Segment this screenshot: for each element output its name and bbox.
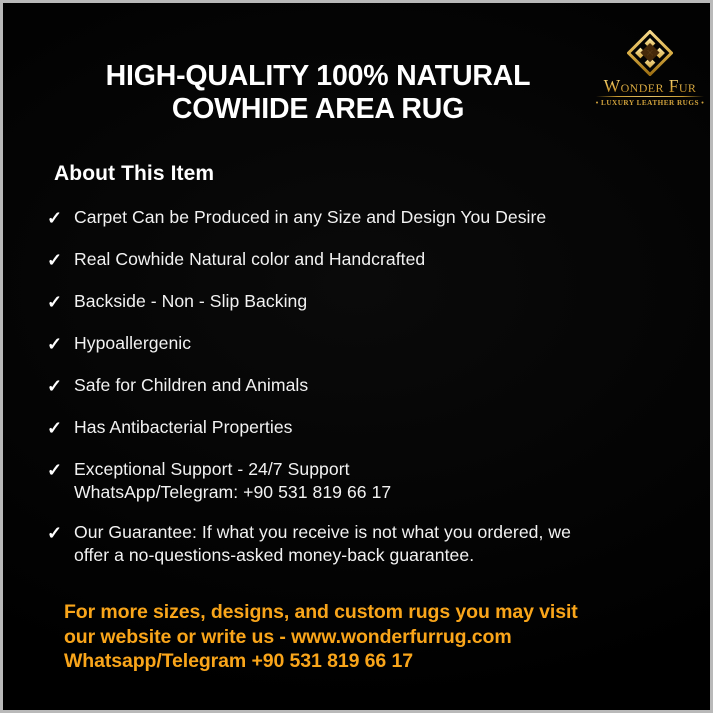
check-icon: ✓ xyxy=(47,521,74,544)
list-item: ✓ Carpet Can be Produced in any Size and… xyxy=(47,206,677,229)
feature-list: ✓ Carpet Can be Produced in any Size and… xyxy=(47,206,677,584)
list-item: ✓ Safe for Children and Animals xyxy=(47,374,677,397)
section-heading-about-this-item: About This Item xyxy=(54,161,214,187)
diamond-logo-icon xyxy=(627,30,673,76)
headline-line-1: HIGH-QUALITY 100% NATURAL xyxy=(106,60,531,92)
brand-divider xyxy=(596,96,704,97)
list-item-label: Our Guarantee: If what you receive is no… xyxy=(74,521,571,567)
list-item-label: Exceptional Support - 24/7 Support Whats… xyxy=(74,458,391,504)
headline-line-2: COWHIDE AREA RUG xyxy=(59,93,577,126)
list-item-label: Has Antibacterial Properties xyxy=(74,416,293,438)
check-icon: ✓ xyxy=(47,206,74,229)
check-icon: ✓ xyxy=(47,248,74,271)
list-item: ✓ Exceptional Support - 24/7 Support Wha… xyxy=(47,458,677,504)
check-icon: ✓ xyxy=(47,416,74,439)
brand-name: Wonder Fur xyxy=(592,77,708,95)
list-item: ✓ Backside - Non - Slip Backing xyxy=(47,290,677,313)
brand-tagline: • LUXURY LEATHER RUGS • xyxy=(592,99,708,108)
check-icon: ✓ xyxy=(47,374,74,397)
list-item-label: Carpet Can be Produced in any Size and D… xyxy=(74,206,546,228)
check-icon: ✓ xyxy=(47,458,74,481)
footer-contact-text: For more sizes, designs, and custom rugs… xyxy=(64,600,578,674)
list-item: ✓ Hypoallergenic xyxy=(47,332,677,355)
check-icon: ✓ xyxy=(47,332,74,355)
list-item-label: Safe for Children and Animals xyxy=(74,374,308,396)
list-item: ✓ Real Cowhide Natural color and Handcra… xyxy=(47,248,677,271)
list-item-label: Backside - Non - Slip Backing xyxy=(74,290,307,312)
check-icon: ✓ xyxy=(47,290,74,313)
page-title: HIGH-QUALITY 100% NATURAL COWHIDE AREA R… xyxy=(59,60,577,126)
list-item-label: Hypoallergenic xyxy=(74,332,191,354)
brand-logo: Wonder Fur • LUXURY LEATHER RUGS • xyxy=(592,30,708,102)
list-item: ✓ Our Guarantee: If what you receive is … xyxy=(47,521,677,567)
list-item-label: Real Cowhide Natural color and Handcraft… xyxy=(74,248,425,270)
product-info-poster: Wonder Fur • LUXURY LEATHER RUGS • HIGH-… xyxy=(0,0,713,713)
list-item: ✓ Has Antibacterial Properties xyxy=(47,416,677,439)
